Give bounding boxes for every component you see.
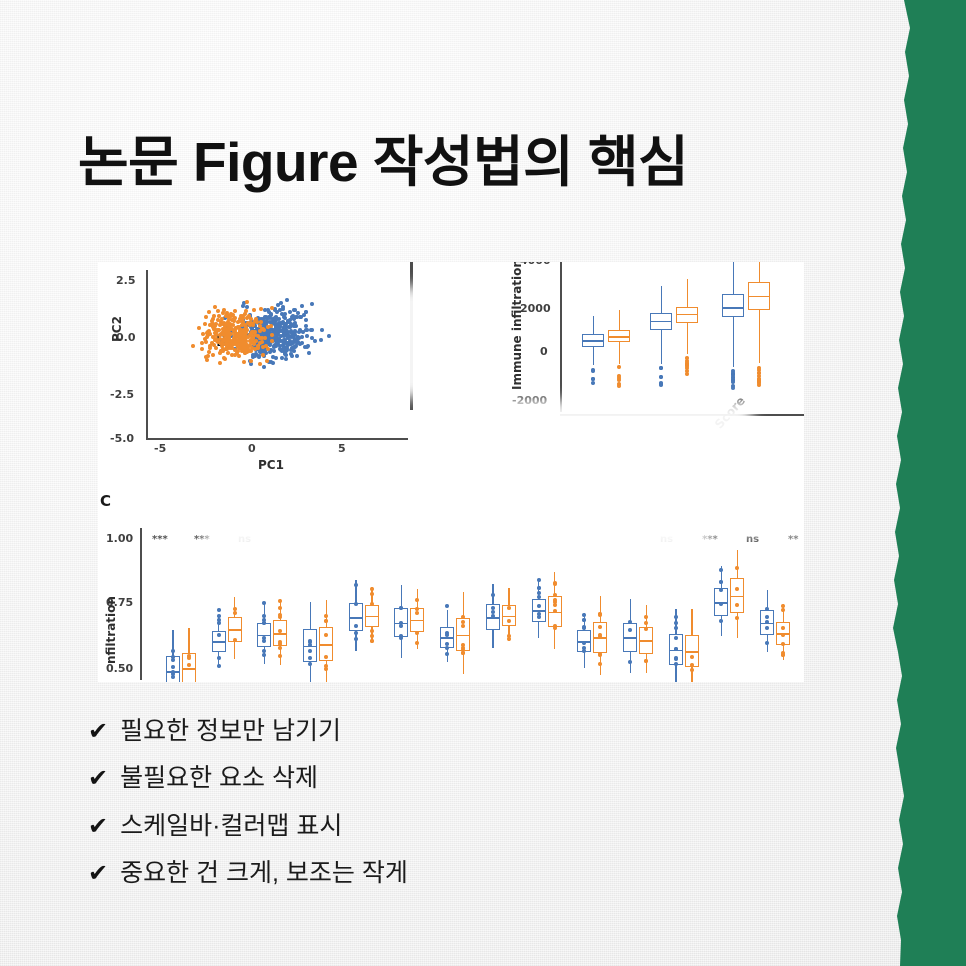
box-outlier (217, 608, 221, 612)
panel-b-y-axis-title: Immune infiltration (510, 262, 524, 390)
box-outlier (262, 601, 266, 605)
panel-b-ytick-2: 0 (540, 345, 548, 358)
box-part (365, 616, 379, 618)
scatter-point (242, 360, 246, 364)
box-outlier (644, 621, 648, 625)
scatter-point (278, 347, 282, 351)
box-outlier (354, 624, 358, 628)
box-outlier (171, 665, 175, 669)
box-outlier (415, 641, 419, 645)
box-outlier (781, 608, 785, 612)
box-outlier (187, 663, 191, 667)
scatter-point (245, 316, 249, 320)
box-outlier (674, 615, 678, 619)
box-outlier (674, 626, 678, 630)
scatter-point (233, 353, 237, 357)
box-part (319, 644, 333, 646)
panel-a-y-axis-title: PC2 (110, 316, 124, 342)
panel-c-sig-5: ns (746, 534, 759, 545)
scatter-point (292, 308, 296, 312)
box-outlier (171, 649, 175, 653)
scatter-point (284, 357, 288, 361)
figure-image: 2.5 0.0 -2.5 -5.0 -5 0 5 PC1 PC2 A B 400… (98, 262, 804, 682)
panel-a-xtick-0: -5 (154, 442, 166, 455)
bullet-label: 필요한 정보만 남기기 (120, 716, 341, 747)
box-part (440, 637, 454, 639)
scatter-point (270, 333, 274, 337)
scatter-point (264, 315, 268, 319)
redaction-patch-a (386, 286, 466, 398)
scatter-point (200, 347, 204, 351)
box-outlier (461, 615, 465, 619)
scatter-point (275, 341, 279, 345)
box-outlier (461, 651, 465, 655)
redaction-patch-b (502, 400, 752, 478)
panel-c-sig-6: ** (788, 534, 798, 545)
box-outlier (582, 641, 586, 645)
box-outlier (171, 655, 175, 659)
panel-a-xtick-1: 0 (248, 442, 256, 455)
box-outlier (690, 668, 694, 672)
box-outlier (217, 664, 221, 668)
scatter-point (304, 318, 308, 322)
scatter-point (203, 322, 207, 326)
box-outlier (354, 631, 358, 635)
scatter-point (310, 302, 314, 306)
box-part (182, 668, 196, 670)
box-outlier (217, 633, 221, 637)
scatter-point (276, 333, 280, 337)
panel-a-ytick-3: -5.0 (110, 432, 134, 445)
box-outlier (491, 614, 495, 618)
scatter-point (289, 342, 293, 346)
panel-a-xtick-2: 5 (338, 442, 346, 455)
scatter-point (304, 310, 308, 314)
box-part (608, 336, 630, 338)
box-part (722, 307, 744, 309)
scatter-point (258, 362, 262, 366)
box-outlier (491, 593, 495, 597)
list-item: ✔ 필요한 정보만 남기기 (88, 716, 708, 747)
scatter-point (249, 339, 253, 343)
box-outlier (370, 629, 374, 633)
box-outlier (278, 646, 282, 650)
scatter-point (242, 335, 246, 339)
box-part (349, 617, 363, 619)
scatter-point (305, 334, 309, 338)
scatter-point (305, 345, 309, 349)
scatter-point (245, 305, 249, 309)
box-outlier (719, 568, 723, 572)
box-body (722, 294, 744, 317)
check-icon: ✔ (88, 719, 108, 743)
scatter-point (262, 365, 266, 369)
box-part (212, 641, 226, 643)
scatter-point (289, 348, 293, 352)
box-outlier (598, 662, 602, 666)
box-outlier (553, 582, 557, 586)
box-outlier (262, 653, 266, 657)
box-part (582, 340, 604, 342)
box-outlier (617, 376, 621, 380)
box-outlier (781, 626, 785, 630)
scatter-point (230, 339, 234, 343)
box-outlier (690, 655, 694, 659)
bullet-label: 스케일바·컬러맵 표시 (120, 811, 342, 842)
box-outlier (644, 627, 648, 631)
box-outlier (233, 611, 237, 615)
box-outlier (644, 659, 648, 663)
box-outlier (659, 375, 663, 379)
panel-c-ytick-0: 1.00 (106, 532, 133, 545)
scatter-point (249, 359, 253, 363)
scatter-point (245, 300, 249, 304)
panel-a-y-axis (146, 270, 148, 438)
box-outlier (399, 636, 403, 640)
scatter-point (216, 318, 220, 322)
box-outlier (415, 598, 419, 602)
box-outlier (537, 586, 541, 590)
box-outlier (171, 670, 175, 674)
box-outlier (324, 619, 328, 623)
box-outlier (415, 631, 419, 635)
box-outlier (278, 615, 282, 619)
box-outlier (582, 618, 586, 622)
box-outlier (262, 614, 266, 618)
box-outlier (537, 604, 541, 608)
scatter-point (252, 308, 256, 312)
scatter-point (223, 342, 227, 346)
scatter-point (223, 357, 227, 361)
scatter-point (295, 354, 299, 358)
box-outlier (537, 595, 541, 599)
scatter-point (284, 349, 288, 353)
scatter-point (217, 314, 221, 318)
box-outlier (308, 656, 312, 660)
panel-c-sig-0: *** (152, 534, 168, 545)
box-part (650, 321, 672, 323)
box-outlier (731, 380, 735, 384)
box-outlier (659, 382, 663, 386)
box-outlier (354, 583, 358, 587)
box-outlier (735, 616, 739, 620)
scatter-point (294, 315, 298, 319)
panel-a-scatter: 2.5 0.0 -2.5 -5.0 -5 0 5 PC1 PC2 A B (98, 262, 410, 480)
box-part (730, 596, 744, 598)
box-outlier (324, 667, 328, 671)
box-outlier (674, 636, 678, 640)
list-item: ✔ 스케일바·컬러맵 표시 (88, 811, 708, 842)
scatter-point (237, 354, 241, 358)
torn-edge-shape (870, 0, 966, 966)
box-outlier (278, 599, 282, 603)
box-outlier (582, 649, 586, 653)
scatter-point (294, 344, 298, 348)
scatter-point (264, 344, 268, 348)
box-outlier (537, 615, 541, 619)
box-outlier (233, 638, 237, 642)
scatter-point (249, 317, 253, 321)
box-outlier (553, 609, 557, 613)
box-outlier (370, 587, 374, 591)
scatter-point (289, 335, 293, 339)
box-part (759, 262, 760, 363)
panel-b-ytick-0: 4000 (520, 262, 551, 267)
box-outlier (598, 625, 602, 629)
scatter-point (254, 317, 258, 321)
scatter-point (213, 305, 217, 309)
panel-b-ytick-1: 2000 (520, 302, 551, 315)
scatter-point (298, 328, 302, 332)
scatter-point (258, 336, 262, 340)
scatter-point (265, 359, 269, 363)
scatter-point (313, 339, 317, 343)
panel-a-ytick-0: 2.5 (116, 274, 136, 287)
box-outlier (659, 366, 663, 370)
box-outlier (324, 614, 328, 618)
box-outlier (308, 649, 312, 653)
panel-a-x-axis-title: PC1 (258, 458, 284, 472)
box-outlier (445, 652, 449, 656)
box-outlier (445, 633, 449, 637)
box-outlier (719, 580, 723, 584)
scatter-point (222, 308, 226, 312)
bullet-label: 중요한 건 크게, 보조는 작게 (120, 858, 408, 889)
scatter-point (319, 338, 323, 342)
box-outlier (719, 619, 723, 623)
scatter-point (285, 298, 289, 302)
box-outlier (278, 640, 282, 644)
box-outlier (461, 646, 465, 650)
slide-title: 논문 Figure 작성법의 핵심 (78, 129, 688, 195)
box-outlier (507, 606, 511, 610)
scatter-point (205, 358, 209, 362)
box-outlier (644, 615, 648, 619)
box-outlier (591, 381, 595, 385)
scatter-point (218, 361, 222, 365)
box-outlier (735, 566, 739, 570)
box-outlier (674, 657, 678, 661)
scatter-point (197, 326, 201, 330)
green-accent-band (870, 0, 966, 966)
redaction-patch-c (206, 502, 706, 554)
box-part (623, 637, 637, 639)
scatter-point (268, 350, 272, 354)
box-outlier (731, 386, 735, 390)
scatter-point (307, 351, 311, 355)
scatter-point (266, 325, 270, 329)
box-outlier (674, 647, 678, 651)
panel-b-y-axis (560, 262, 562, 412)
scatter-point (244, 309, 248, 313)
scatter-point (225, 334, 229, 338)
scatter-point (210, 319, 214, 323)
box-part (228, 629, 242, 631)
box-outlier (582, 613, 586, 617)
list-item: ✔ 중요한 건 크게, 보조는 작게 (88, 858, 708, 889)
box-outlier (308, 662, 312, 666)
check-icon: ✔ (88, 766, 108, 790)
scatter-point (310, 328, 314, 332)
box-part (685, 651, 699, 653)
box-outlier (617, 384, 621, 388)
box-outlier (354, 602, 358, 606)
box-outlier (445, 642, 449, 646)
box-outlier (354, 637, 358, 641)
scatter-point (204, 340, 208, 344)
box-outlier (591, 368, 595, 372)
box-part (639, 640, 653, 642)
box-outlier (507, 637, 511, 641)
box-outlier (685, 372, 689, 376)
scatter-point (243, 351, 247, 355)
check-icon: ✔ (88, 861, 108, 885)
box-outlier (217, 621, 221, 625)
box-outlier (370, 592, 374, 596)
box-outlier (217, 656, 221, 660)
box-outlier (370, 639, 374, 643)
box-part (676, 314, 698, 316)
box-outlier (765, 641, 769, 645)
scatter-point (207, 310, 211, 314)
scatter-point (320, 328, 324, 332)
bullet-list: ✔ 필요한 정보만 남기기 ✔ 불필요한 요소 삭제 ✔ 스케일바·컬러맵 표시… (88, 716, 708, 905)
scatter-point (216, 309, 220, 313)
box-outlier (324, 655, 328, 659)
scatter-point (289, 324, 293, 328)
scatter-point (290, 354, 294, 358)
box-part (410, 620, 424, 622)
scatter-point (278, 324, 282, 328)
scatter-point (233, 333, 237, 337)
scatter-point (191, 344, 195, 348)
check-icon: ✔ (88, 814, 108, 838)
box-outlier (674, 621, 678, 625)
box-outlier (674, 662, 678, 666)
bullet-label: 불필요한 요소 삭제 (120, 763, 318, 794)
box-outlier (757, 366, 761, 370)
panel-c-y-axis (140, 528, 142, 680)
scatter-point (211, 353, 215, 357)
box-outlier (628, 660, 632, 664)
box-part (273, 633, 287, 635)
list-item: ✔ 불필요한 요소 삭제 (88, 763, 708, 794)
panel-c-label: C (100, 492, 111, 510)
scatter-point (249, 362, 253, 366)
box-part (502, 616, 516, 618)
scatter-point (294, 324, 298, 328)
box-outlier (370, 634, 374, 638)
scatter-point (232, 319, 236, 323)
scatter-point (208, 346, 212, 350)
scatter-point (294, 339, 298, 343)
box-outlier (278, 654, 282, 658)
scatter-point (299, 315, 303, 319)
panel-a-x-axis (146, 438, 408, 440)
box-outlier (445, 646, 449, 650)
box-outlier (217, 614, 221, 618)
scatter-point (300, 341, 304, 345)
box-outlier (278, 606, 282, 610)
box-outlier (278, 629, 282, 633)
box-outlier (537, 578, 541, 582)
box-outlier (553, 626, 557, 630)
box-outlier (617, 365, 621, 369)
redaction-patch-d (658, 500, 804, 534)
box-outlier (491, 610, 495, 614)
scatter-point (212, 327, 216, 331)
scatter-point (210, 341, 214, 345)
box-outlier (598, 653, 602, 657)
box-outlier (445, 604, 449, 608)
scatter-point (327, 334, 331, 338)
box-outlier (781, 642, 785, 646)
slide-root: 논문 Figure 작성법의 핵심 2.5 0.0 -2.5 -5.0 -5 0… (0, 0, 966, 966)
panel-a-ytick-2: -2.5 (110, 388, 134, 401)
scatter-point (201, 332, 205, 336)
scatter-point (268, 320, 272, 324)
box-part (456, 635, 470, 637)
box-outlier (171, 675, 175, 679)
box-part (748, 296, 770, 298)
box-outlier (731, 371, 735, 375)
scatter-point (300, 304, 304, 308)
scatter-point (204, 315, 208, 319)
scatter-point (233, 309, 237, 313)
panel-c-y-axis-title: nfiltration (104, 596, 118, 664)
